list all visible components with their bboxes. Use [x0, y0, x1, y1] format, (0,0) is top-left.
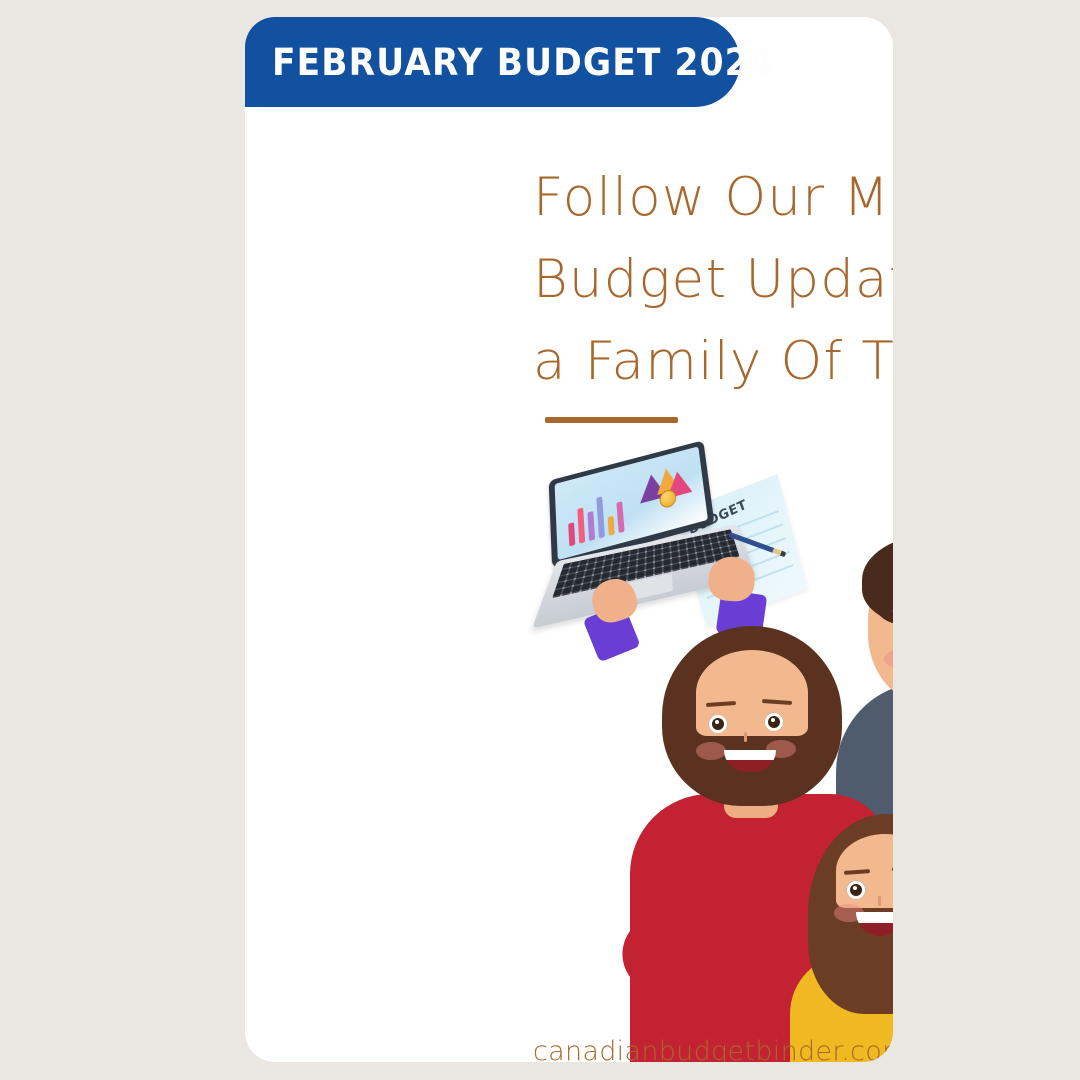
footer-block: canadianbudgetbinder.com 🍁 Canadian Budg… [533, 1027, 893, 1062]
headline-block: Follow Our Monthly Budget Update For a F… [533, 157, 893, 403]
headline-line-3: a Family Of Three! [533, 321, 893, 403]
website-url[interactable]: canadianbudgetbinder.com [533, 1036, 893, 1063]
family-illustration [600, 534, 893, 1062]
headline-line-2: Budget Update For [533, 239, 893, 321]
screen-pie-chart [636, 462, 691, 521]
month-banner-label: FEBRUARY BUDGET 2024 [272, 41, 775, 84]
poster-card: BUDGET [245, 17, 893, 1062]
month-banner: FEBRUARY BUDGET 2024 [245, 17, 740, 107]
poster-canvas: BUDGET [0, 0, 1080, 1080]
headline-divider [545, 417, 678, 423]
headline-line-1: Follow Our Monthly [533, 157, 893, 239]
